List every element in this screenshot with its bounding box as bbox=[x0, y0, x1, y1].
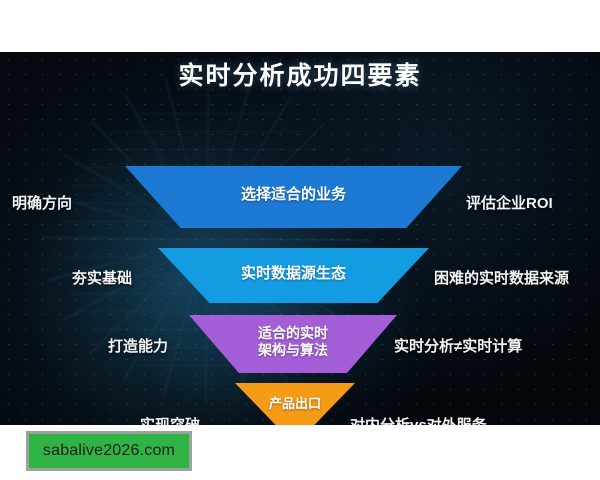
funnel-layer-4[interactable]: 产品出口 bbox=[235, 383, 355, 425]
funnel-layer-2[interactable]: 实时数据源生态 bbox=[158, 248, 429, 303]
right-label-4: 对内分析vs对外服务 bbox=[350, 414, 487, 425]
funnel-layer-3-label: 适合的实时 架构与算法 bbox=[258, 325, 328, 360]
left-label-2: 夯实基础 bbox=[72, 267, 132, 288]
left-label-3: 打造能力 bbox=[108, 335, 168, 356]
funnel-layer-4-label: 产品出口 bbox=[269, 396, 321, 412]
funnel-layer-1-label: 选择适合的业务 bbox=[241, 186, 346, 205]
watermark-badge: sabalive2026.com bbox=[26, 431, 192, 471]
right-label-1: 评估企业ROI bbox=[466, 192, 553, 213]
funnel-layer-1[interactable]: 选择适合的业务 bbox=[125, 166, 462, 228]
left-label-1: 明确方向 bbox=[12, 192, 72, 213]
watermark-text: sabalive2026.com bbox=[43, 442, 175, 460]
infographic-page: 实时分析成功四要素 选择适合的业务 实时数据源生态 适合的实时 架构与算法 产品… bbox=[0, 0, 600, 480]
left-label-4: 实现突破 bbox=[140, 414, 200, 425]
funnel-layer-3[interactable]: 适合的实时 架构与算法 bbox=[189, 315, 397, 373]
right-label-3: 实时分析≠实时计算 bbox=[394, 335, 522, 356]
funnel-layer-2-label: 实时数据源生态 bbox=[241, 265, 346, 284]
funnel-diagram: 选择适合的业务 实时数据源生态 适合的实时 架构与算法 产品出口 bbox=[0, 52, 600, 425]
right-label-2: 困难的实时数据来源 bbox=[434, 267, 569, 288]
dark-canvas: 实时分析成功四要素 选择适合的业务 实时数据源生态 适合的实时 架构与算法 产品… bbox=[0, 52, 600, 425]
